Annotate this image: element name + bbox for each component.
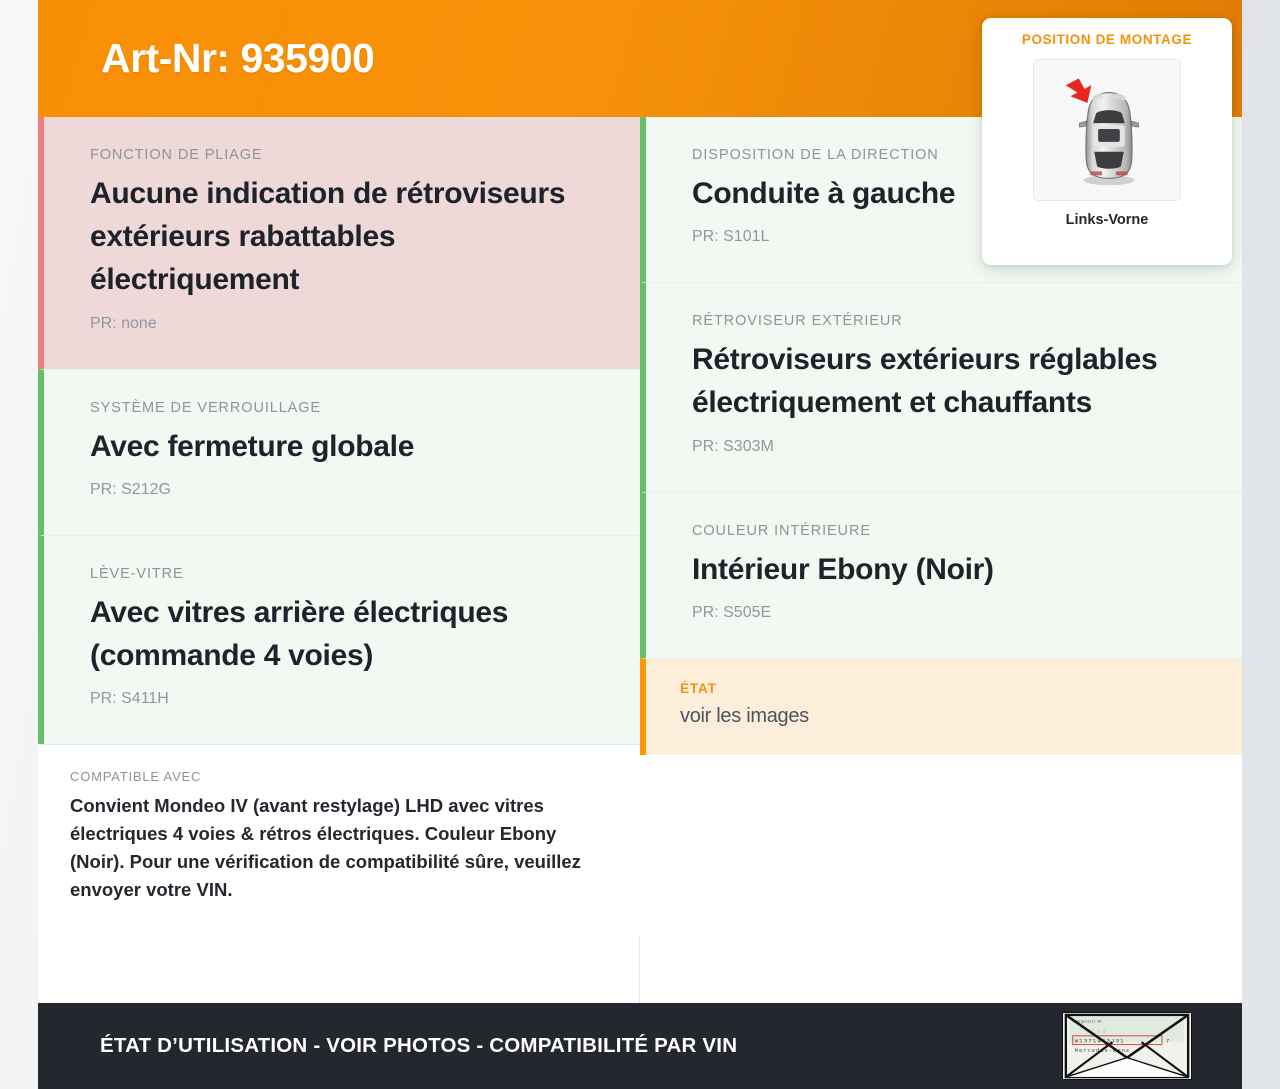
spec-card-folding-function[interactable]: FONCTION DE PLIAGE Aucune indication de … [38,117,640,369]
spec-pr-code: PR: none [90,315,594,333]
spec-label: LÈVE-VITRE [90,566,594,582]
spec-pr-code: PR: S411H [90,690,594,708]
spec-pr-code: PR: S505E [692,604,1196,622]
mounting-position-title: POSITION DE MONTAGE [982,32,1232,47]
spec-card-interior-colour[interactable]: COULEUR INTÉRIEURE Intérieur Ebony (Noir… [640,492,1242,658]
footer-bar: ÉTAT D’UTILISATION - VOIR PHOTOS - COMPA… [38,1003,1242,1089]
mounting-position-card[interactable]: POSITION DE MONTAGE [982,18,1232,265]
spec-card-window-lifter[interactable]: LÈVE-VITRE Avec vitres arrière électriqu… [38,535,640,744]
left-column-filler [38,935,640,1003]
spec-label: RÉTROVISEUR EXTÉRIEUR [692,313,1196,329]
spec-value: Intérieur Ebony (Noir) [692,548,1196,591]
spec-card-locking-system[interactable]: SYSTÈME DE VERROUILLAGE Avec fermeture g… [38,369,640,535]
spec-value: Aucune indication de rétroviseurs extéri… [90,172,594,302]
product-spec-sheet: Art-Nr: 935900 POSITION DE MONTAGE [38,0,1242,1089]
footer-notice: ÉTAT D’UTILISATION - VOIR PHOTOS - COMPA… [100,1034,737,1058]
vin-document-envelope-icon[interactable]: Fahrgestell-Nr. [4] A.0 W1371463J31 7 Me… [1062,1012,1192,1080]
page-title: Art-Nr: 935900 [101,35,374,82]
condition-value: voir les images [680,703,1208,729]
spec-value: Avec vitres arrière électriques (command… [90,591,594,677]
right-column-filler [640,755,1242,1003]
spec-card-condition[interactable]: ÉTAT voir les images [640,658,1242,755]
spec-label: FONCTION DE PLIAGE [90,147,594,163]
spec-value: Rétroviseurs extérieurs réglables électr… [692,338,1196,424]
compatible-label: COMPATIBLE AVEC [70,769,614,784]
spec-value: Avec fermeture globale [90,425,594,468]
condition-label: ÉTAT [680,681,1208,696]
specs-column-left: FONCTION DE PLIAGE Aucune indication de … [38,117,640,1003]
car-top-view-with-arrow-icon [1033,59,1181,201]
mounting-position-caption: Links-Vorne [982,212,1232,228]
spec-label: SYSTÈME DE VERROUILLAGE [90,400,594,416]
spec-pr-code: PR: S212G [90,481,594,499]
compatible-text: Convient Mondeo IV (avant restylage) LHD… [70,792,614,904]
spec-pr-code: PR: S303M [692,438,1196,456]
spec-label: COULEUR INTÉRIEURE [692,523,1196,539]
spec-card-exterior-mirror[interactable]: RÉTROVISEUR EXTÉRIEUR Rétroviseurs extér… [640,282,1242,491]
svg-text:7: 7 [1166,1038,1170,1045]
spec-card-compatible-with[interactable]: COMPATIBLE AVEC Convient Mondeo IV (avan… [38,744,640,934]
